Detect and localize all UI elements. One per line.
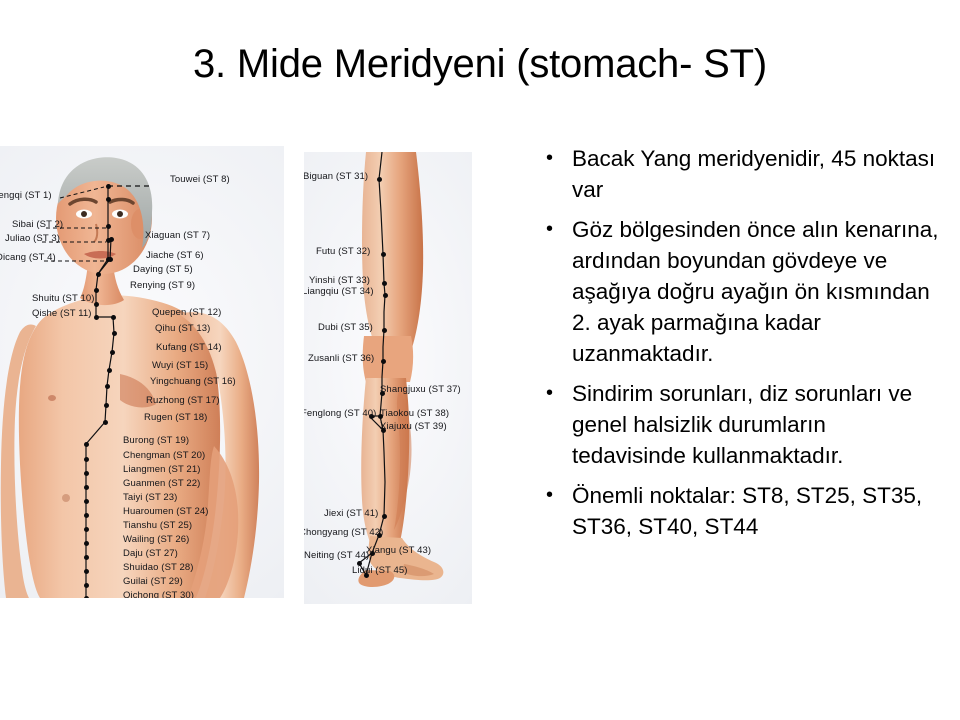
- acupoint-dot: [383, 293, 388, 298]
- bullet-text: Önemli noktalar: ST8, ST25, ST35, ST36, …: [572, 480, 940, 542]
- acupoint-label: Biguan (ST 31): [304, 172, 368, 182]
- acupoint-dot: [109, 237, 114, 242]
- acupoint-dot: [111, 315, 116, 320]
- acupoint-label: Neiting (ST 44): [304, 551, 369, 561]
- page-title: 3. Mide Meridyeni (stomach- ST): [0, 42, 960, 87]
- bullet-text: Bacak Yang meridyenidir, 45 noktası var: [572, 143, 940, 205]
- acupoint-dot: [108, 257, 113, 262]
- bullet-item: •Sindirim sorunları, diz sorunları ve ge…: [540, 378, 940, 471]
- acupoint-dot: [105, 384, 110, 389]
- acupoint-label: Wailing (ST 26): [123, 535, 189, 545]
- acupoint-dot: [103, 420, 108, 425]
- acupoint-dot: [84, 527, 89, 532]
- acupoint-label: Sibai (ST 2): [12, 220, 63, 230]
- acupoint-label: Fenglong (ST 40): [304, 409, 376, 419]
- acupoint-dot: [84, 541, 89, 546]
- acupoint-dot: [84, 596, 89, 599]
- acupoint-dot: [106, 184, 111, 189]
- acupoint-label: Xiajuxu (ST 39): [380, 422, 447, 432]
- acupoint-dot: [106, 224, 111, 229]
- acupoint-label: Huaroumen (ST 24): [123, 507, 208, 517]
- acupoint-label: Shuidao (ST 28): [123, 563, 194, 573]
- acupoint-label: Ruzhong (ST 17): [146, 396, 220, 406]
- acupoint-dot: [84, 555, 89, 560]
- acupoint-dot: [84, 457, 89, 462]
- bullet-text: Sindirim sorunları, diz sorunları ve gen…: [572, 378, 940, 471]
- acupoint-dot: [112, 331, 117, 336]
- acupoint-label: Kufang (ST 14): [156, 343, 222, 353]
- bullet-item: •Göz bölgesinden önce alın kenarına, ard…: [540, 214, 940, 369]
- acupoint-label: Guanmen (ST 22): [123, 479, 200, 489]
- acupoint-label: Tiaokou (ST 38): [380, 409, 449, 419]
- acupoint-dot: [94, 288, 99, 293]
- acupoint-dot: [84, 485, 89, 490]
- figure-stomach-meridian-torso: Chengqi (ST 1)Sibai (ST 2)Juliao (ST 3)D…: [0, 146, 284, 598]
- acupoint-dot: [104, 403, 109, 408]
- bullet-marker-icon: •: [540, 143, 572, 174]
- acupoint-dot: [381, 252, 386, 257]
- acupoint-label: Burong (ST 19): [123, 436, 189, 446]
- acupoint-label: Xiaguan (ST 7): [145, 231, 210, 241]
- acupoint-label: Rugen (ST 18): [144, 413, 207, 423]
- acupoint-dot: [84, 583, 89, 588]
- acupoint-label: Zusanli (ST 36): [308, 354, 374, 364]
- acupoint-label: Shuitu (ST 10): [32, 294, 94, 304]
- acupoint-dot: [84, 442, 89, 447]
- bullet-item: •Bacak Yang meridyenidir, 45 noktası var: [540, 143, 940, 205]
- acupoint-label: Yinshi (ST 33): [309, 276, 370, 286]
- acupoint-label: Daying (ST 5): [133, 265, 193, 275]
- acupoint-label: Daju (ST 27): [123, 549, 178, 559]
- acupoint-dot: [382, 514, 387, 519]
- acupoint-label: Wuyi (ST 15): [152, 361, 208, 371]
- acupoint-label: Qihu (ST 13): [155, 324, 210, 334]
- acupoint-label: Liangmen (ST 21): [123, 465, 200, 475]
- figure-stomach-meridian-leg: Biguan (ST 31)Futu (ST 32)Yinshi (ST 33)…: [304, 152, 472, 604]
- acupoint-dot: [84, 513, 89, 518]
- acupoint-label: Chongyang (ST 42): [304, 528, 383, 538]
- acupoint-label: Dubi (ST 35): [318, 323, 373, 333]
- acupoint-label: Tianshu (ST 25): [123, 521, 192, 531]
- acupoint-label: Futu (ST 32): [316, 247, 370, 257]
- acupoint-dot: [96, 272, 101, 277]
- acupoint-label: Guilai (ST 29): [123, 577, 183, 587]
- acupoint-dot: [381, 359, 386, 364]
- acupoint-dot: [382, 281, 387, 286]
- acupoint-label: Qichong (ST 30): [123, 591, 194, 598]
- acupoint-label: Shangjuxu (ST 37): [380, 385, 461, 395]
- acupoint-label: Xiangu (ST 43): [366, 546, 431, 556]
- acupoint-label: Yingchuang (ST 16): [150, 377, 236, 387]
- acupoint-dot: [84, 471, 89, 476]
- acupoint-dot: [377, 177, 382, 182]
- acupoint-label: Touwei (ST 8): [170, 175, 230, 185]
- acupoint-label: Juliao (ST 3): [5, 234, 60, 244]
- acupoint-dot: [84, 499, 89, 504]
- acupoint-label: Jiexi (ST 41): [324, 509, 378, 519]
- acupoint-label: Jiache (ST 6): [146, 251, 204, 261]
- acupoint-label: Chengman (ST 20): [123, 451, 205, 461]
- acupoint-label: Dicang (ST 4): [0, 253, 56, 263]
- acupoint-dot: [110, 350, 115, 355]
- acupoint-label: Lidui (ST 45): [352, 566, 408, 576]
- acupoint-dot: [382, 328, 387, 333]
- acupoint-label: Chengqi (ST 1): [0, 191, 52, 201]
- acupoint-dot: [106, 197, 111, 202]
- acupoint-label: Taiyi (ST 23): [123, 493, 177, 503]
- acupoint-dot: [84, 569, 89, 574]
- bullet-item: •Önemli noktalar: ST8, ST25, ST35, ST36,…: [540, 480, 940, 542]
- bullet-text: Göz bölgesinden önce alın kenarına, ardı…: [572, 214, 940, 369]
- acupoint-dot: [107, 368, 112, 373]
- bullet-marker-icon: •: [540, 480, 572, 511]
- bullet-list: •Bacak Yang meridyenidir, 45 noktası var…: [540, 143, 940, 551]
- bullet-marker-icon: •: [540, 378, 572, 409]
- acupoint-label: Qishe (ST 11): [32, 309, 92, 319]
- acupoint-label: Renying (ST 9): [130, 281, 195, 291]
- bullet-marker-icon: •: [540, 214, 572, 245]
- acupoint-dot: [94, 315, 99, 320]
- acupoint-label: Liangqiu (ST 34): [304, 287, 374, 297]
- acupoint-label: Quepen (ST 12): [152, 308, 221, 318]
